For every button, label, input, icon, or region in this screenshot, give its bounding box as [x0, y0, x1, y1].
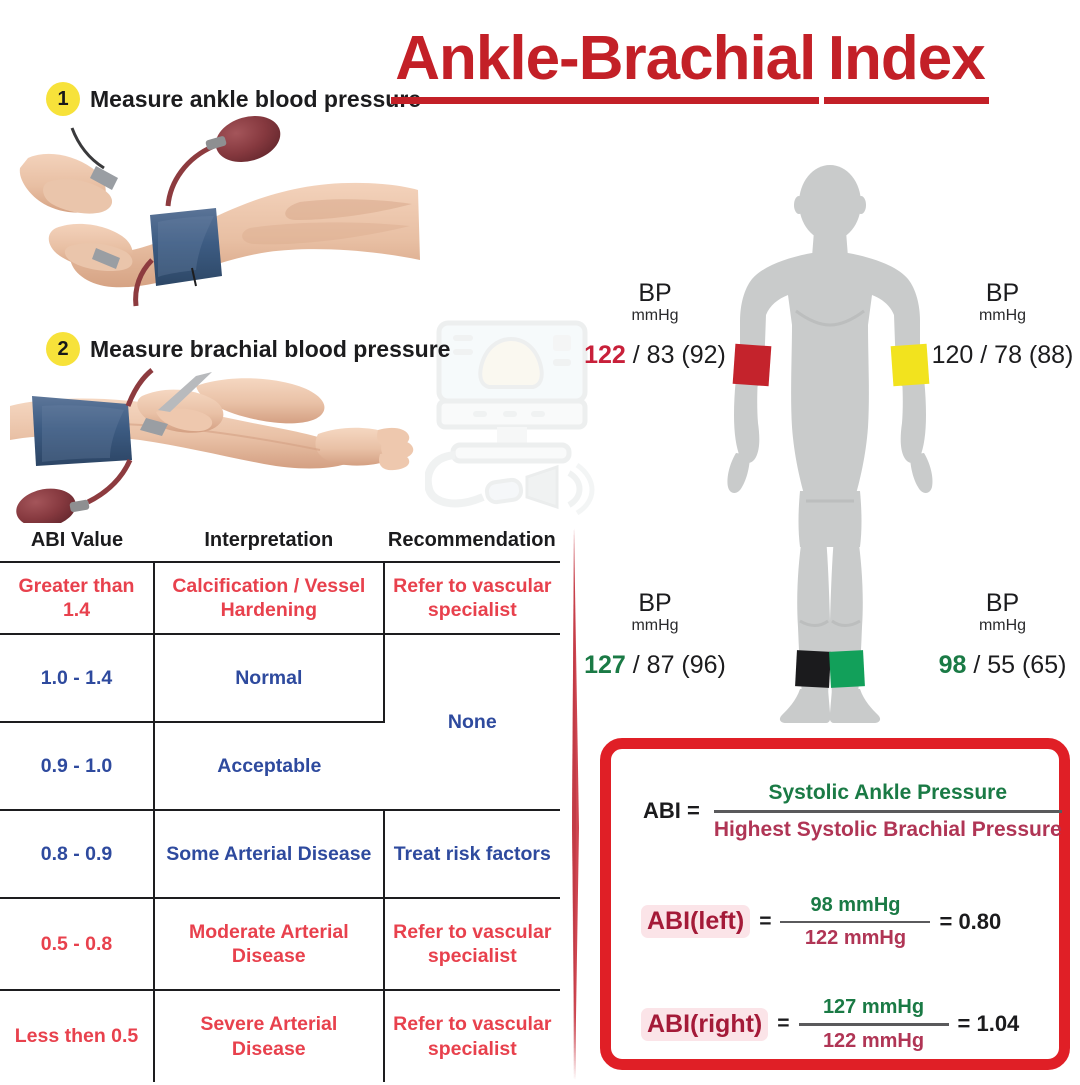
cell-abi-value: 0.9 - 1.0	[0, 722, 154, 810]
ankle-measurement-illustration	[0, 110, 440, 325]
table-row: Greater than 1.4 Calcification / Vessel …	[0, 562, 560, 634]
step-2-number-badge: 2	[46, 332, 80, 366]
page-title-line-1: Ankle-Brachial	[391, 26, 819, 104]
cell-interpretation: Calcification / Vessel Hardening	[154, 562, 384, 634]
bp-reading-left-arm: BP mmHg 122 / 83 (92)	[570, 280, 740, 370]
abi-right-fraction: 127 mmHg 122 mmHg	[799, 996, 949, 1053]
bp-value-row: 127 / 87 (96)	[570, 651, 740, 680]
bp-reading-left-ankle: BP mmHg 127 / 87 (96)	[570, 590, 740, 680]
bp-label: BP	[570, 590, 740, 616]
cell-abi-value: Greater than 1.4	[0, 562, 154, 634]
bp-reading-right-arm: BP mmHg 120 / 78 (88)	[925, 280, 1080, 370]
cell-recommendation-merged: None	[384, 634, 560, 810]
step-2-label: 2 Measure brachial blood pressure	[46, 332, 450, 366]
abi-numerator: Systolic Ankle Pressure	[714, 781, 1062, 810]
cell-interpretation: Normal	[154, 634, 384, 722]
bp-systolic: 98	[939, 651, 967, 679]
bp-value-row: 98 / 55 (65)	[925, 651, 1080, 680]
bp-unit: mmHg	[925, 307, 1080, 325]
abi-left-denominator: 122 mmHg	[780, 923, 930, 950]
abi-right-denominator: 122 mmHg	[799, 1026, 949, 1053]
bp-value-row: 120 / 78 (88)	[925, 341, 1080, 370]
table-row: Less then 0.5 Severe Arterial Disease Re…	[0, 990, 560, 1082]
abi-definition-row: ABI = Systolic Ankle Pressure Highest Sy…	[629, 781, 1041, 842]
bp-rest: / 87 (96)	[633, 651, 726, 679]
step-2-text: Measure brachial blood pressure	[90, 336, 450, 363]
cell-recommendation: Refer to vascular specialist	[384, 898, 560, 990]
bp-systolic: 122	[584, 341, 626, 369]
bp-unit: mmHg	[570, 307, 740, 325]
bp-label: BP	[925, 280, 1080, 306]
table-row: 1.0 - 1.4 Normal None	[0, 634, 560, 722]
bp-reading-right-ankle: BP mmHg 98 / 55 (65)	[925, 590, 1080, 680]
abi-formula-box: ABI = Systolic Ankle Pressure Highest Sy…	[600, 738, 1070, 1070]
table-row: 0.8 - 0.9 Some Arterial Disease Treat ri…	[0, 810, 560, 898]
cell-recommendation: Treat risk factors	[384, 810, 560, 898]
cell-recommendation: Refer to vascular specialist	[384, 562, 560, 634]
abi-definition-fraction: Systolic Ankle Pressure Highest Systolic…	[714, 781, 1062, 842]
abi-left-numerator: 98 mmHg	[780, 894, 930, 921]
column-header-recommendation: Recommendation	[384, 525, 560, 562]
bp-systolic: 120	[932, 341, 974, 369]
cell-abi-value: 1.0 - 1.4	[0, 634, 154, 722]
abi-denominator: Highest Systolic Brachial Pressure	[714, 813, 1062, 842]
cell-interpretation: Some Arterial Disease	[154, 810, 384, 898]
abi-right-result: = 1.04	[958, 1011, 1020, 1037]
abi-right-example-row: ABI(right) = 127 mmHg 122 mmHg = 1.04	[629, 996, 1041, 1053]
column-header-abi-value: ABI Value	[0, 525, 154, 562]
bp-systolic: 127	[584, 651, 626, 679]
abi-left-equals: =	[759, 910, 771, 934]
page-title-line-2: Index	[824, 26, 989, 104]
abi-equals-label: ABI =	[629, 798, 700, 824]
abi-left-label: ABI(left)	[641, 905, 750, 938]
cell-abi-value: Less then 0.5	[0, 990, 154, 1082]
abi-left-example-row: ABI(left) = 98 mmHg 122 mmHg = 0.80	[629, 894, 1041, 951]
bp-unit: mmHg	[570, 617, 740, 635]
cell-abi-value: 0.5 - 0.8	[0, 898, 154, 990]
cell-interpretation: Moderate Arterial Disease	[154, 898, 384, 990]
abi-right-equals: =	[777, 1012, 789, 1036]
table-row: 0.5 - 0.8 Moderate Arterial Disease Refe…	[0, 898, 560, 990]
step-1-number-badge: 1	[46, 82, 80, 116]
bp-unit: mmHg	[925, 617, 1080, 635]
abi-right-label: ABI(right)	[641, 1008, 768, 1041]
table-header-row: ABI Value Interpretation Recommendation	[0, 525, 560, 562]
bp-label: BP	[570, 280, 740, 306]
cell-interpretation: Severe Arterial Disease	[154, 990, 384, 1082]
abi-right-numerator: 127 mmHg	[799, 996, 949, 1023]
bp-rest: / 78 (88)	[980, 341, 1073, 369]
brachial-measurement-illustration	[0, 368, 440, 523]
cell-interpretation: Acceptable	[154, 722, 384, 810]
abi-interpretation-table: ABI Value Interpretation Recommendation …	[0, 525, 560, 1080]
bp-rest: / 83 (92)	[633, 341, 726, 369]
cell-recommendation: Refer to vascular specialist	[384, 990, 560, 1082]
bp-label: BP	[925, 590, 1080, 616]
column-header-interpretation: Interpretation	[154, 525, 384, 562]
abi-left-result: = 0.80	[939, 909, 1001, 935]
page-title: Ankle-Brachial Index	[360, 6, 1020, 104]
bp-rest: / 55 (65)	[973, 651, 1066, 679]
abi-left-fraction: 98 mmHg 122 mmHg	[780, 894, 930, 951]
bp-value-row: 122 / 83 (92)	[570, 341, 740, 370]
cell-abi-value: 0.8 - 0.9	[0, 810, 154, 898]
